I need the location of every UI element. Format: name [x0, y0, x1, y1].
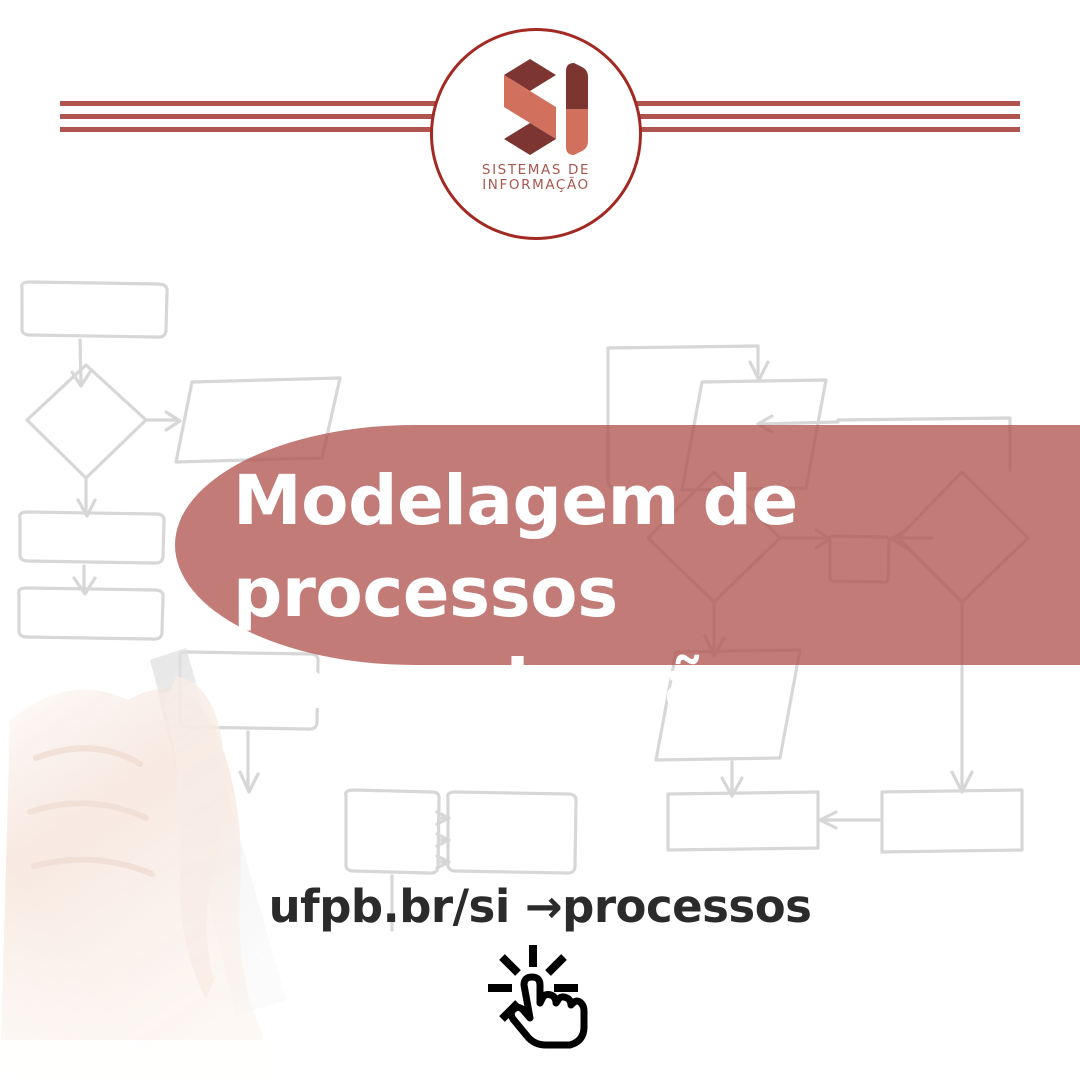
pointing-hand-click-icon — [480, 941, 600, 1051]
title-banner: Modelagem de processos da graduação — [175, 425, 1080, 665]
page-title: Modelagem de processos da graduação — [233, 455, 1080, 731]
header-band: SISTEMAS DE INFORMAÇÃO — [0, 0, 1080, 250]
si-monogram-icon — [478, 57, 594, 157]
cta-url-text[interactable]: ufpb.br/si →processos — [0, 880, 1080, 933]
poster-canvas: SISTEMAS DE INFORMAÇÃO Modelagem de proc… — [0, 0, 1080, 1080]
call-to-action: ufpb.br/si →processos — [0, 880, 1080, 1051]
si-logo-badge: SISTEMAS DE INFORMAÇÃO — [430, 28, 642, 240]
logo-wordmark: SISTEMAS DE INFORMAÇÃO — [433, 163, 639, 193]
rule-line-right-1 — [572, 101, 1020, 106]
